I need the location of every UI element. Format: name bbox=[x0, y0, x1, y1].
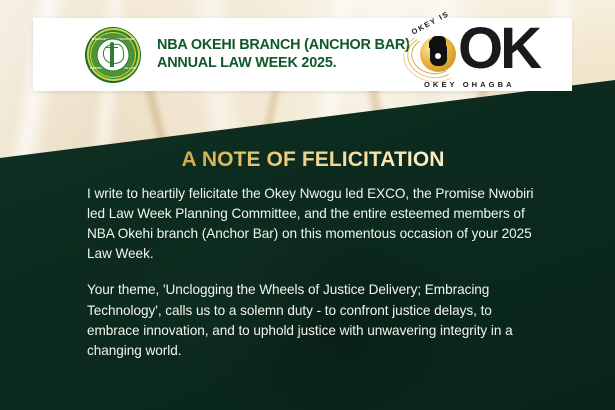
note-paragraph: I write to heartily felicitate the Okey … bbox=[87, 184, 539, 264]
event-banner: NIGERIAN BAR ASSOCIATION PROMOTING THE R… bbox=[33, 18, 572, 91]
palm-dot-icon bbox=[435, 53, 441, 59]
event-headline: NBA OKEHI BRANCH (ANCHOR BAR) ANNUAL LAW… bbox=[157, 37, 410, 72]
note-title: A NOTE OF FELICITATION bbox=[87, 148, 539, 172]
note-content: A NOTE OF FELICITATION I write to hearti… bbox=[87, 148, 539, 361]
seal-center bbox=[96, 38, 130, 72]
sponsor-monogram: OK bbox=[458, 20, 539, 78]
justice-figure-icon bbox=[110, 42, 114, 67]
felicitation-poster: NIGERIAN BAR ASSOCIATION PROMOTING THE R… bbox=[0, 0, 615, 410]
nba-seal-icon: NIGERIAN BAR ASSOCIATION PROMOTING THE R… bbox=[85, 27, 141, 83]
note-paragraph: Your theme, 'Unclogging the Wheels of Ju… bbox=[87, 280, 539, 360]
sponsor-name: OKEY OHAGBA bbox=[424, 80, 515, 89]
hand-icon bbox=[430, 44, 447, 66]
sponsor-logo: OKEY IS OK OKEY OHAGBA bbox=[406, 22, 556, 88]
